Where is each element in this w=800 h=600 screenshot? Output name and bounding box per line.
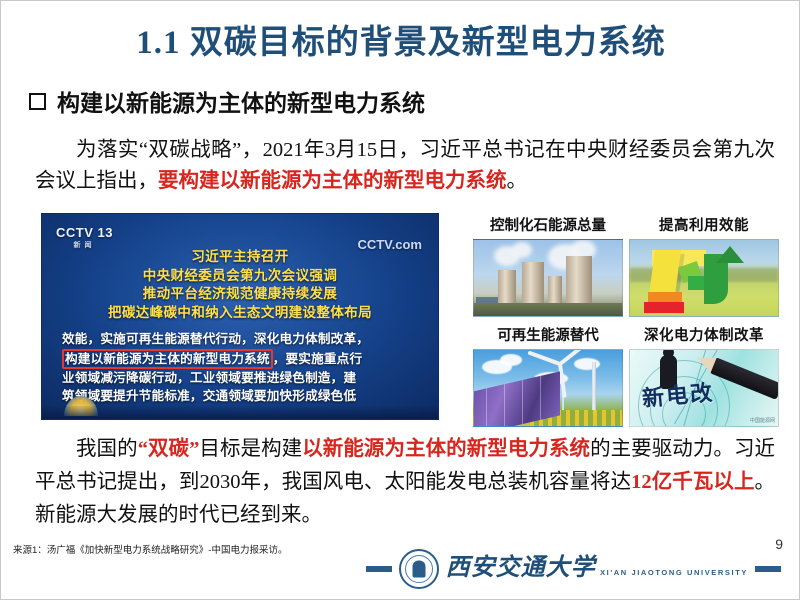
tv-ticker-line-4: 筑领域要提升节能标准，交通领域要加快形成绿色低 <box>62 387 420 406</box>
university-seal-icon <box>399 549 439 589</box>
tv-ticker-line-3: 业领域减污降碳行动，工业领域要推进绿色制造，建 <box>62 369 420 388</box>
logo-names: 西安交通大学 XI'AN JIAOTONG UNIVERSITY <box>446 556 748 581</box>
logo-bar-left <box>366 566 392 572</box>
logo-name-cn: 西安交通大学 <box>446 555 596 581</box>
figure-cell-control-fossil: 控制化石能源总量 <box>473 217 623 317</box>
figure-cell-power-reform: 深化电力体制改革 新电改 中国能源网 <box>629 327 779 427</box>
photo-watermark: 中国能源网 <box>750 417 775 424</box>
tv-headline-line-2: 中央财经委员会第九次会议强调 <box>42 267 438 286</box>
figure-grid: 控制化石能源总量 提高利用效能 <box>473 217 779 422</box>
power-reform-photo: 新电改 中国能源网 <box>629 349 779 427</box>
figure-caption: 控制化石能源总量 <box>473 217 623 236</box>
tv-ticker-highlight: 构建以新能源为主体的新型电力系统 <box>62 349 273 369</box>
slide-canvas: 1.1 双碳目标的背景及新型电力系统 构建以新能源为主体的新型电力系统 为落实“… <box>0 0 800 600</box>
figure-cell-renewable-substitution: 可再生能源替代 <box>473 327 623 427</box>
logo-name-en: XI'AN JIAOTONG UNIVERSITY <box>600 568 748 577</box>
tv-headline-block: 习近平主持召开 中央财经委员会第九次会议强调 推动平台经济规范健康持续发展 把碳… <box>42 248 438 322</box>
hollow-square-bullet-icon <box>29 93 46 110</box>
cctv13-logo-label: CCTV 13 <box>56 225 113 240</box>
figure-caption: 提高利用效能 <box>629 217 779 236</box>
figure-caption: 深化电力体制改革 <box>629 327 779 346</box>
para-bottom-seg-5: 12亿千瓦以上 <box>631 471 754 493</box>
para-bottom-seg-3: 以新能源为主体的新型电力系统 <box>302 438 590 460</box>
section-heading-label: 构建以新能源为主体的新型电力系统 <box>57 84 425 118</box>
source-note: 来源1：汤广福《加快新型电力系统战略研究》-中国电力报采访。 <box>13 542 287 556</box>
cooling-towers-photo <box>473 239 623 317</box>
tv-headline-line-1: 习近平主持召开 <box>42 248 438 267</box>
cctv13-logo-icon: CCTV 13 新闻 <box>56 226 113 250</box>
tv-ticker-block: 效能，实施可再生能源替代行动，深化电力体制改革， 构建以新能源为主体的新型电力系… <box>62 330 420 406</box>
para-bottom-seg-2: 目标是构建 <box>199 438 302 460</box>
solar-panels-wind-turbine-photo <box>473 349 623 427</box>
tv-headline-line-3: 推动平台经济规范健康持续发展 <box>42 285 438 304</box>
tv-ticker-line-2: 构建以新能源为主体的新型电力系统，要实施重点行 <box>62 349 420 369</box>
figure-caption: 可再生能源替代 <box>473 327 623 346</box>
figure-cell-improve-efficiency: 提高利用效能 <box>629 217 779 317</box>
para-bottom-seg-1: “双碳” <box>138 438 200 460</box>
tv-headline-line-4: 把碳达峰碳中和纳入生态文明建设整体布局 <box>42 304 438 323</box>
paragraph-top: 为落实“双碳战略”，2021年3月15日，习近平总书记在中央财经委员会第九次会议… <box>35 135 775 197</box>
university-logo: 西安交通大学 XI'AN JIAOTONG UNIVERSITY <box>366 549 781 589</box>
cctv-news-screenshot: CCTV 13 新闻 CCTV.com 习近平主持召开 中央财经委员会第九次会议… <box>41 213 439 420</box>
paragraph-bottom: 我国的“双碳”目标是构建以新能源为主体的新型电力系统的主要驱动力。习近平总书记提… <box>35 433 775 532</box>
tv-bottom-bar <box>42 406 438 419</box>
page-title: 1.1 双碳目标的背景及新型电力系统 <box>1 15 800 63</box>
section-heading: 构建以新能源为主体的新型电力系统 <box>29 84 425 118</box>
para-top-seg-1: 要构建以新能源为主体的新型电力系统 <box>158 170 507 192</box>
para-bottom-seg-0: 我国的 <box>76 438 138 460</box>
logo-bar-right <box>755 566 781 572</box>
tv-ticker-line-1: 效能，实施可再生能源替代行动，深化电力体制改革， <box>62 330 420 349</box>
power-reform-overlay-text: 新电改 <box>641 375 716 413</box>
tv-ticker-line-2-rest: ，要实施重点行 <box>273 352 363 366</box>
para-top-seg-2: 。 <box>507 170 528 192</box>
green-yellow-arrows-photo <box>629 239 779 317</box>
